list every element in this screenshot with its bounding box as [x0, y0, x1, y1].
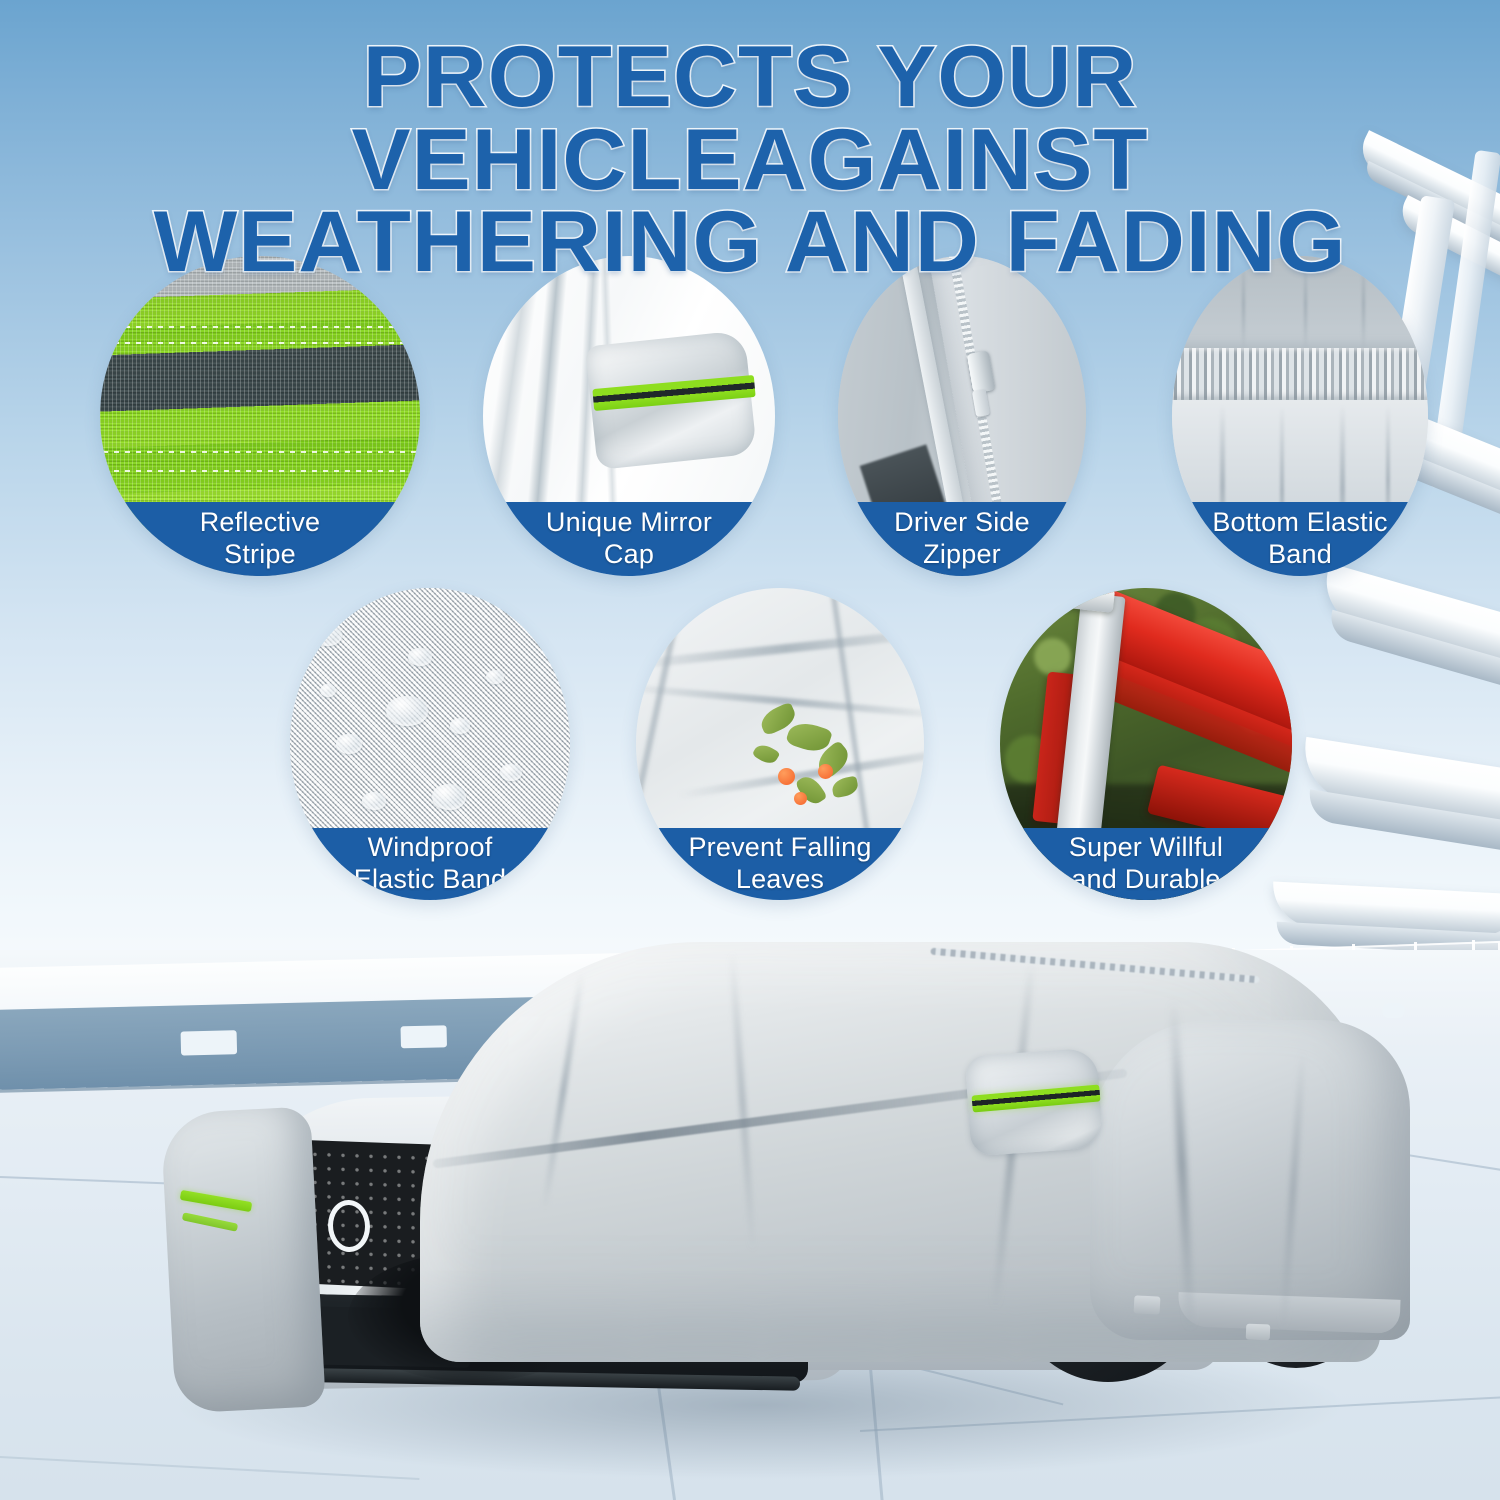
feature-label-super-willful-and-durable: Super Willful and Durable: [1000, 828, 1292, 900]
feature-bottom-elastic-band[interactable]: Bottom Elastic Band: [1172, 256, 1428, 576]
feature-driver-side-zipper[interactable]: Driver Side Zipper: [838, 256, 1086, 576]
feature-label-reflective-stripe: Reflective Stripe: [100, 502, 420, 576]
feature-label-unique-mirror-cap: Unique Mirror Cap: [483, 502, 775, 576]
brand-emblem: [328, 1199, 370, 1252]
cover-hem-tab: [1246, 1324, 1271, 1341]
feature-label-bottom-elastic-band: Bottom Elastic Band: [1172, 502, 1428, 576]
feature-prevent-falling-leaves[interactable]: Prevent Falling Leaves: [636, 588, 924, 900]
feature-label-prevent-falling-leaves: Prevent Falling Leaves: [636, 828, 924, 900]
feature-label-driver-side-zipper: Driver Side Zipper: [838, 502, 1086, 576]
feature-windproof-elastic-band[interactable]: Windproof Elastic Band: [290, 588, 570, 900]
feature-reflective-stripe[interactable]: Reflective Stripe: [100, 256, 420, 576]
product-hero-image: [0, 900, 1500, 1500]
cover-hem-tab: [1134, 1295, 1161, 1314]
feature-unique-mirror-cap[interactable]: Unique Mirror Cap: [483, 256, 775, 576]
feature-super-willful-and-durable[interactable]: Super Willful and Durable: [1000, 588, 1292, 900]
feature-label-windproof-elastic-band: Windproof Elastic Band: [290, 828, 570, 900]
